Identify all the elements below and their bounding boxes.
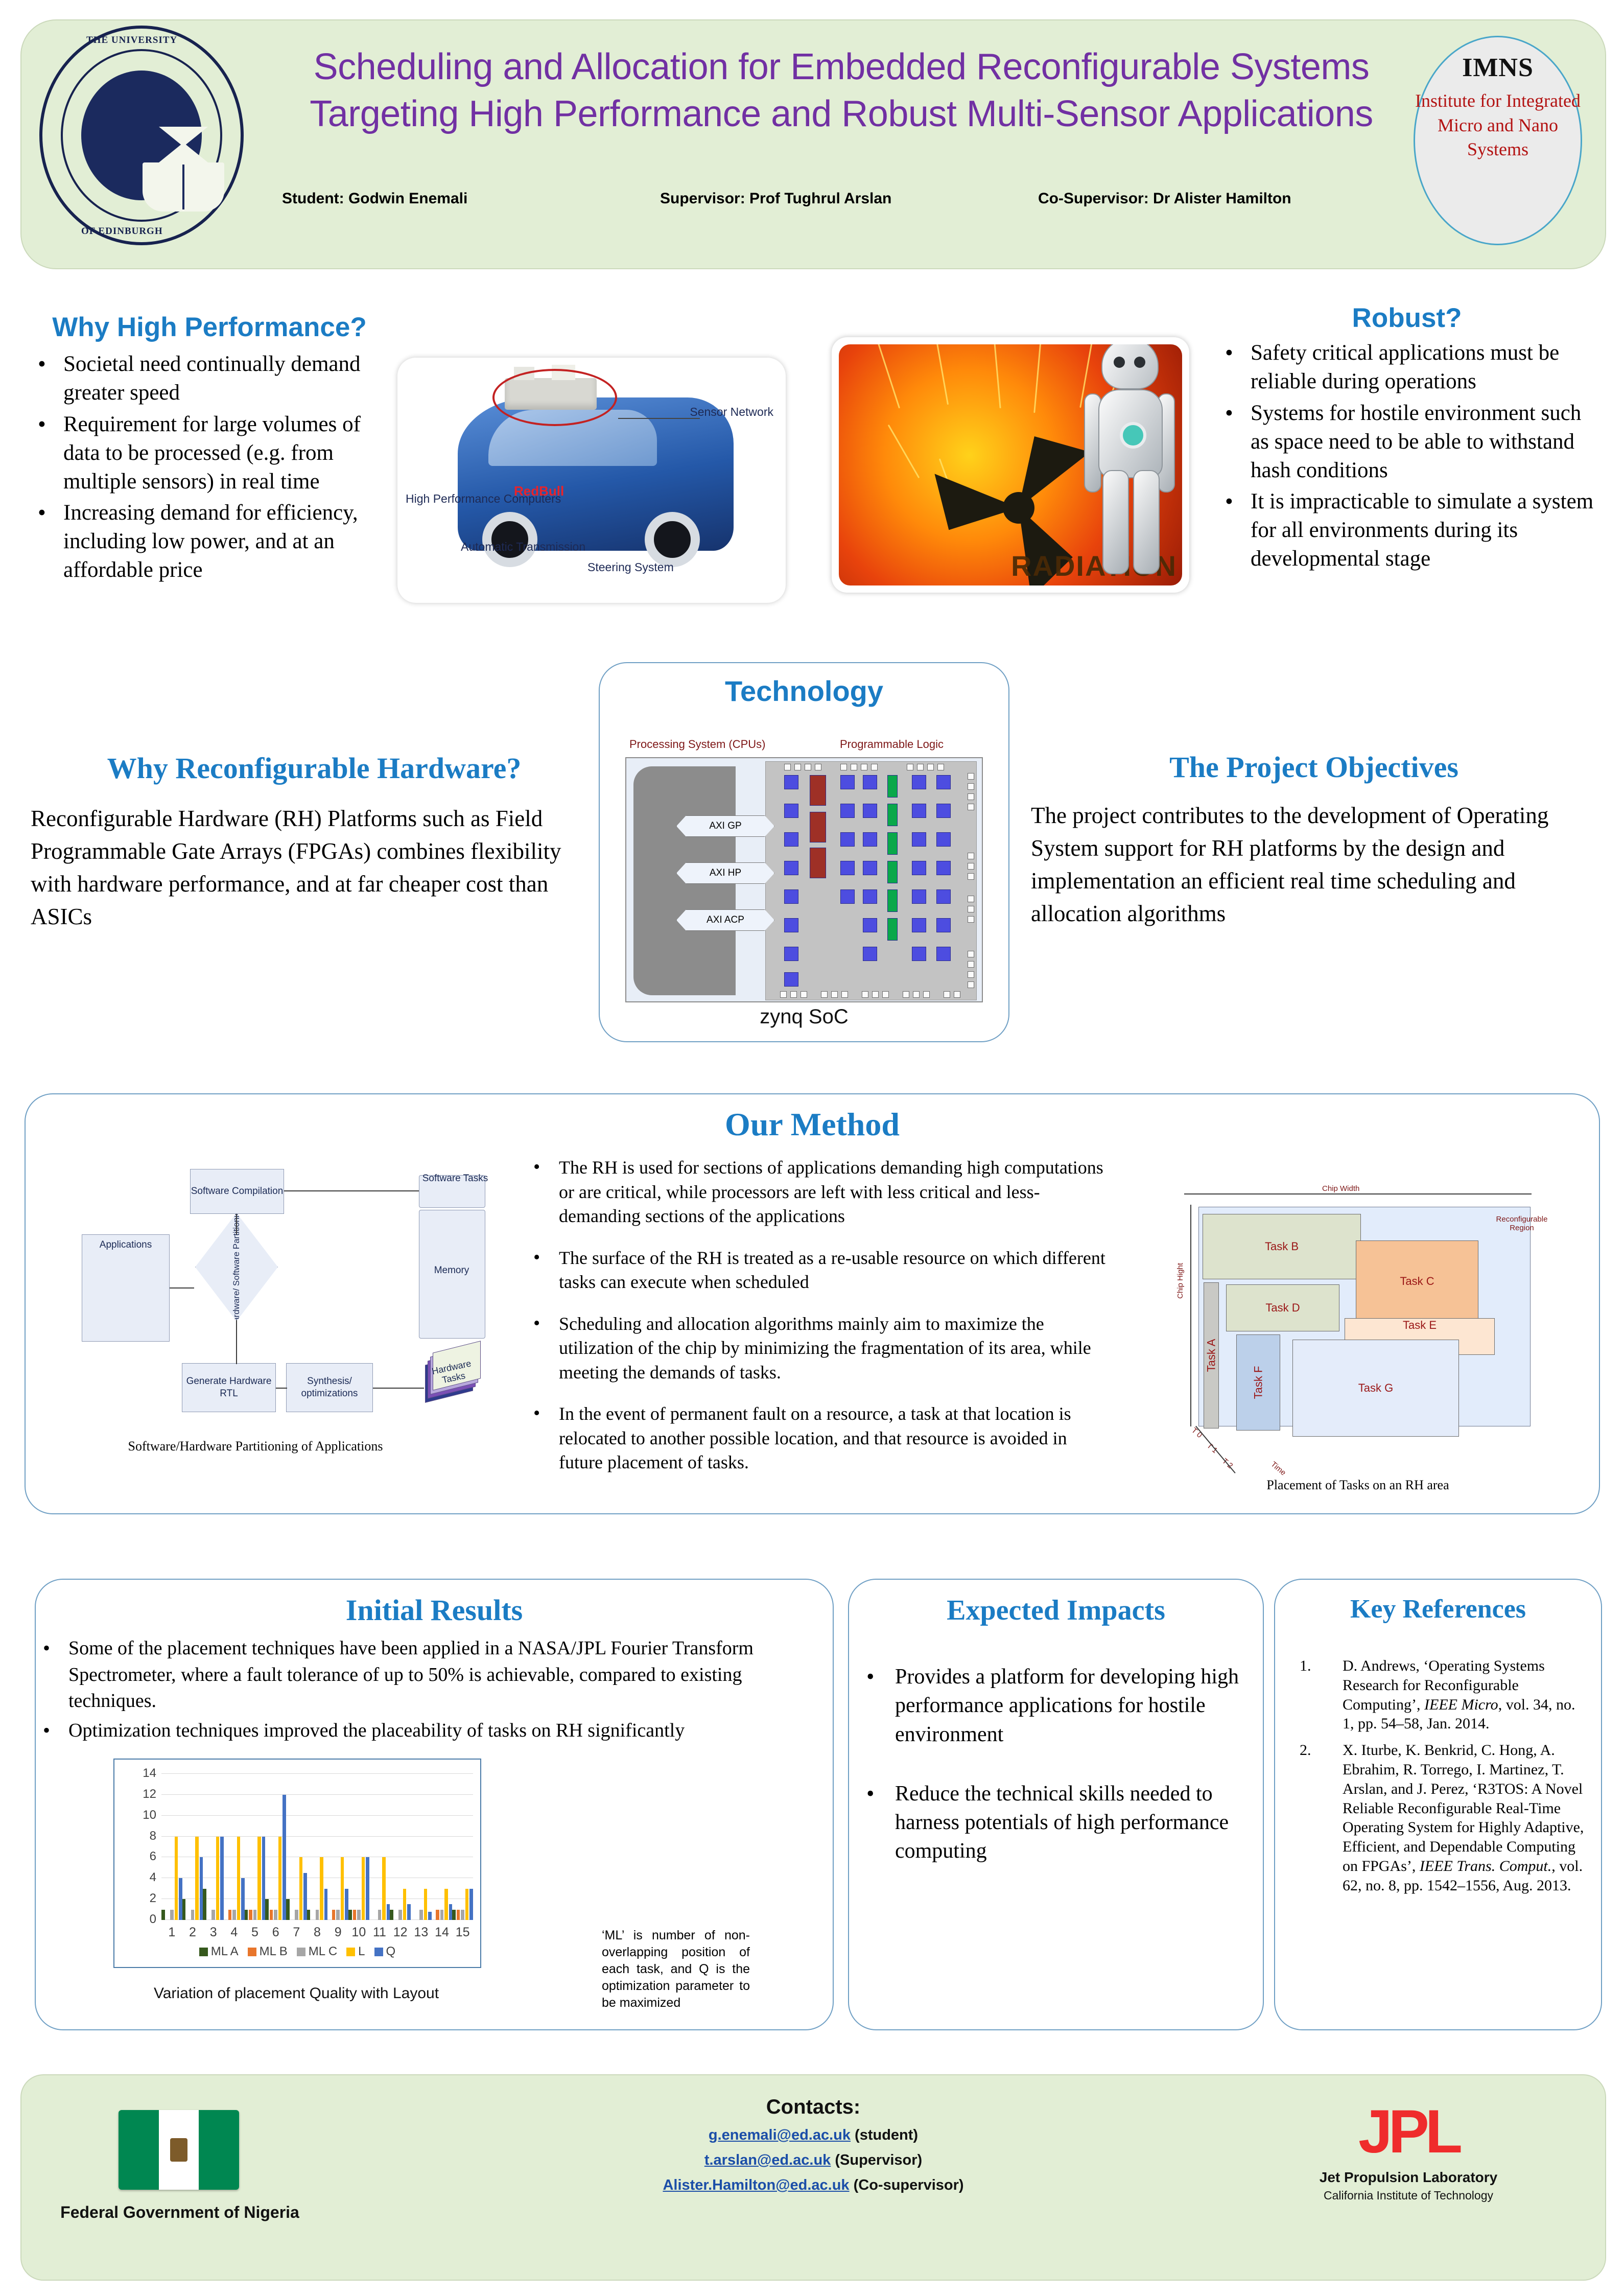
chart-x-tick: 6 [265,1925,286,1940]
email-link-supervisor[interactable]: t.arslan@ed.ac.uk [704,2152,831,2168]
flowchart-caption: Software/Hardware Partitioning of Applic… [51,1439,460,1454]
objectives-title: The Project Objectives [1031,750,1597,784]
task-block-f: Task F [1236,1334,1280,1431]
section-why-reconfigurable-hardware: Why Reconfigurable Hardware? Reconfigura… [31,751,598,933]
list-item: It is impracticable to simulate a system… [1218,487,1596,573]
chart-bar [440,1910,444,1920]
chart-bar [357,1910,361,1920]
chart-legend-item: ML A [199,1944,239,1959]
jpl-wordmark: JPL [1301,2101,1516,2162]
chart-bar [469,1889,473,1920]
chart-legend-swatch [346,1948,355,1956]
car-body-shape: RedBull [458,397,734,551]
task-block-d: Task D [1226,1284,1339,1331]
flow-node-generate-hardware-rtl: Generate Hardware RTL [182,1363,276,1412]
chart-bar [403,1889,407,1920]
label-chip-width: Chip Width [1322,1184,1359,1193]
email-link-cosupervisor[interactable]: Alister.Hamilton@ed.ac.uk [663,2177,849,2193]
programmable-logic-block [765,761,977,1000]
method-title: Our Method [26,1106,1599,1143]
contacts-heading: Contacts: [532,2096,1094,2119]
rh-diagram-caption: Placement of Tasks on an RH area [1154,1478,1562,1493]
chart-bar [398,1910,402,1920]
chart-bar-group: 11 [369,1774,390,1920]
axi-gp-arrow: AXI GP [676,815,774,837]
list-item: Scheduling and allocation algorithms mai… [526,1312,1109,1385]
contact-row: g.enemali@ed.ac.uk (student) [532,2127,1094,2144]
chart-x-tick: 10 [348,1925,369,1940]
impacts-list: Provides a platform for developing high … [849,1662,1263,1866]
chart-bar [195,1837,199,1920]
chart-legend: ML AML BML CLQ [114,1944,480,1959]
label-chip-height: Chip Hight [1176,1263,1185,1299]
chart-bar [407,1904,411,1920]
axi-hp-arrow: AXI HP [676,862,774,884]
chart-bar [200,1857,203,1920]
why-high-performance-list: Societal need continually demand greater… [31,350,388,584]
chart-bar [182,1899,186,1920]
chart-bar [324,1889,328,1920]
chart-bar [382,1857,386,1920]
chart-bar-group: 5 [245,1774,266,1920]
chart-bar-group: 12 [390,1774,411,1920]
chart-bar [262,1837,266,1920]
why-high-performance-title: Why High Performance? [31,312,388,343]
chart-legend-swatch [248,1948,256,1956]
chart-bar [278,1837,282,1920]
chart-bar [444,1889,448,1920]
crest-bottom-text: OF EDINBURGH [81,226,163,237]
chart-y-tick: 10 [143,1808,156,1822]
chart-bar [265,1899,269,1920]
section-technology: Technology Processing System (CPUs) Prog… [599,662,1009,1042]
contact-row: t.arslan@ed.ac.uk (Supervisor) [532,2152,1094,2169]
sensor-leader-line [618,418,700,419]
chart-bar-group: 8 [307,1774,328,1920]
list-item: Optimization techniques improved the pla… [36,1718,817,1744]
label-sensor-network: Sensor Network [690,405,773,420]
imns-abbr: IMNS [1415,53,1581,83]
chart-y-tick: 4 [150,1870,156,1885]
rh-placement-diagram: Chip Width Chip Hight Reconfigurable Reg… [1154,1171,1562,1478]
jpl-line-1: Jet Propulsion Laboratory [1301,2169,1516,2186]
results-title: Initial Results [36,1593,833,1627]
chart-bar [270,1910,273,1920]
radiation-robot-image: RADIATION [832,337,1189,593]
results-list: Some of the placement techniques have be… [36,1635,833,1744]
chart-bar [175,1837,178,1920]
chart-bar [216,1837,220,1920]
jpl-logo: JPL Jet Propulsion Laboratory California… [1301,2101,1516,2203]
title-line-1: Scheduling and Allocation for Embedded R… [251,43,1431,90]
sensor-highlight-ellipse [492,369,617,426]
instrumented-car-image: RedBull Sensor Network High Performance … [397,358,786,603]
chart-bar [378,1910,382,1920]
contact-row: Alister.Hamilton@ed.ac.uk (Co-supervisor… [532,2177,1094,2194]
list-item: Requirement for large volumes of data to… [31,410,388,496]
chart-bar [232,1910,236,1920]
chart-bar [299,1857,303,1920]
chart-legend-item: L [346,1944,365,1959]
chart-x-tick: 9 [327,1925,348,1940]
chart-bar [457,1910,460,1920]
chart-bar-group: 2 [182,1774,203,1920]
list-item: The surface of the RH is treated as a re… [526,1246,1109,1295]
radiation-background: RADIATION [839,344,1182,585]
chart-bar-group: 9 [327,1774,348,1920]
chart-y-tick: 14 [143,1766,156,1780]
chart-x-tick: 8 [307,1925,328,1940]
chart-bar [336,1910,340,1920]
chart-y-tick: 8 [150,1829,156,1843]
chart-bar [245,1910,248,1920]
flow-label-memory: Memory [419,1265,484,1276]
objectives-body: The project contributes to the developme… [1031,800,1597,930]
chart-bar-group: 10 [348,1774,369,1920]
references-title: Key References [1275,1594,1601,1624]
label-high-performance-computers: High Performance Computers [406,491,561,507]
role-student: (student) [851,2127,918,2143]
chart-legend-item: ML C [297,1944,337,1959]
chart-x-tick: 7 [286,1925,307,1940]
why-reconfigurable-title: Why Reconfigurable Hardware? [31,751,598,785]
chart-plot-area: 02468101214123456789101112131415 [161,1774,473,1920]
task-f-label: Task F [1252,1366,1265,1399]
ml-definition-note: ‘ML’ is number of non-overlapping positi… [602,1927,750,2011]
chart-bar-group: 4 [224,1774,245,1920]
label-reconfigurable-region: Reconfigurable Region [1489,1215,1555,1232]
chart-x-tick: 1 [161,1925,182,1940]
list-item: Systems for hostile environment such as … [1218,399,1596,485]
cosupervisor-name: Co-Supervisor: Dr Alister Hamilton [1038,190,1291,207]
chart-bar [465,1889,469,1920]
chart-bar [390,1910,393,1920]
chart-bar [353,1910,357,1920]
chart-bar [449,1904,453,1920]
why-reconfigurable-body: Reconfigurable Hardware (RH) Platforms s… [31,803,598,933]
chart-bar [286,1899,290,1920]
axi-acp-arrow: AXI ACP [676,909,774,931]
time-tick-t1: T 1 [1205,1441,1219,1455]
chart-bar [452,1910,456,1920]
sw-hw-partitioning-flowchart: Applications Hardware/ Software Partitio… [82,1169,490,1455]
chart-bar-group: 1 [161,1774,182,1920]
section-why-high-performance: Why High Performance? Societal need cont… [31,312,388,588]
supervisor-name: Supervisor: Prof Tughrul Arslan [660,190,891,207]
chart-bar [419,1910,423,1920]
chart-bar [307,1910,311,1920]
label-automatic-transmission: Automatic Transmission [461,540,585,555]
chart-bar [228,1910,232,1920]
task-block-c: Task C [1356,1240,1478,1322]
label-processing-system: Processing System (CPUs) [629,738,766,751]
flow-label-software-tasks: Software Tasks [422,1173,488,1184]
chart-x-tick: 11 [369,1925,390,1940]
robust-list: Safety critical applications must be rel… [1218,339,1596,573]
list-item: In the event of permanent fault on a res… [526,1402,1109,1475]
list-item: Societal need continually demand greater… [31,350,388,407]
role-supervisor: (Supervisor) [831,2152,922,2168]
chart-legend-swatch [199,1948,208,1956]
chart-bar [345,1889,348,1920]
page-title: Scheduling and Allocation for Embedded R… [251,43,1431,137]
student-name: Student: Godwin Enemali [282,190,467,207]
robust-title: Robust? [1218,302,1596,334]
list-item: The RH is used for sections of applicati… [526,1156,1109,1229]
chart-bar [203,1889,206,1920]
chart-bar-group: 14 [432,1774,453,1920]
role-cosupervisor: (Co-supervisor) [850,2177,964,2193]
chart-bar [283,1795,286,1920]
chart-legend-swatch [374,1948,383,1956]
list-item: Some of the placement techniques have be… [36,1635,817,1715]
chart-bar [249,1910,252,1920]
chart-y-tick: 0 [150,1912,156,1927]
chart-bar [170,1910,174,1920]
task-a-label: Task A [1205,1339,1218,1372]
chart-bar [436,1910,439,1920]
chart-bar [316,1910,319,1920]
chart-bar [362,1857,365,1920]
placement-quality-chart: 02468101214123456789101112131415 ML AML … [113,1759,481,1968]
chart-x-tick: 5 [245,1925,266,1940]
chart-bar [461,1910,464,1920]
chart-legend-item: Q [374,1944,396,1959]
chart-bar-group: 6 [265,1774,286,1920]
chart-bar-group: 7 [286,1774,307,1920]
poster-footer: Federal Government of Nigeria Contacts: … [20,2074,1606,2281]
title-line-2: Targeting High Performance and Robust Mu… [251,90,1431,137]
list-item: Provides a platform for developing high … [849,1662,1263,1749]
contacts-block: Contacts: g.enemali@ed.ac.uk (student) t… [532,2096,1094,2194]
label-steering-system: Steering System [587,560,674,575]
section-our-method: Our Method Applications Hardware/ Softwa… [25,1093,1600,1514]
poster-header: THE UNIVERSITY OF EDINBURGH Scheduling a… [20,19,1606,269]
flow-node-synthesis-optimizations: Synthesis/ optimizations [286,1363,373,1412]
chart-bar-group: 15 [452,1774,473,1920]
technology-caption: zynq SoC [600,1005,1008,1028]
chart-bar [257,1837,261,1920]
chart-bar [332,1910,336,1920]
list-item: Increasing demand for efficiency, includ… [31,499,388,584]
chart-bar [211,1910,215,1920]
reference-item: 1.D. Andrews, ‘Operating Systems Researc… [1293,1656,1588,1733]
chart-x-tick: 13 [411,1925,432,1940]
chart-bar [237,1837,241,1920]
chart-bar [341,1857,344,1920]
imns-logo: IMNS Institute for Integrated Micro and … [1414,36,1582,245]
chart-bar [220,1837,224,1920]
chart-y-tick: 2 [150,1891,156,1906]
chart-x-tick: 15 [452,1925,473,1940]
email-link-student[interactable]: g.enemali@ed.ac.uk [709,2127,851,2143]
list-item: Safety critical applications must be rel… [1218,339,1596,396]
list-item: Reduce the technical skills needed to ha… [849,1779,1263,1866]
task-block-b: Task B [1203,1214,1361,1279]
label-programmable-logic: Programmable Logic [840,738,944,751]
chart-bar [191,1910,195,1920]
task-block-a: Task A [1204,1282,1219,1428]
impacts-title: Expected Impacts [849,1594,1263,1627]
crest-top-text: THE UNIVERSITY [86,35,177,46]
reference-number: 2. [1300,1741,1311,1760]
reference-number: 1. [1300,1656,1311,1676]
chart-caption: Variation of placement Quality with Layo… [112,1983,480,2003]
chart-x-tick: 12 [390,1925,411,1940]
chart-bar [320,1857,323,1920]
section-robust: Robust? Safety critical applications mus… [1218,302,1596,576]
chart-x-tick: 4 [224,1925,245,1940]
references-list: 1.D. Andrews, ‘Operating Systems Researc… [1293,1656,1588,1903]
section-key-references: Key References 1.D. Andrews, ‘Operating … [1274,1579,1602,2030]
chart-x-tick: 14 [432,1925,453,1940]
chart-y-tick: 12 [143,1787,156,1801]
chart-bar [274,1910,277,1920]
jpl-line-2: California Institute of Technology [1301,2189,1516,2203]
chart-y-tick: 6 [150,1849,156,1864]
imns-name: Institute for Integrated Micro and Nano … [1415,89,1581,162]
method-list: The RH is used for sections of applicati… [526,1156,1109,1492]
university-of-edinburgh-crest-icon: THE UNIVERSITY OF EDINBURGH [39,26,244,245]
chart-bar-group: 3 [203,1774,224,1920]
label-time-axis: Time [1269,1460,1287,1477]
reference-journal: IEEE Micro [1424,1696,1498,1713]
section-expected-impacts: Expected Impacts Provides a platform for… [848,1579,1264,2030]
section-project-objectives: The Project Objectives The project contr… [1031,750,1597,930]
chart-bar [424,1889,428,1920]
chart-legend-swatch [297,1948,305,1956]
reference-item: 2.X. Iturbe, K. Benkrid, C. Hong, A. Ebr… [1293,1741,1588,1895]
chart-bar [161,1910,165,1920]
chart-bar [295,1910,298,1920]
zynq-soc-diagram: AXI GP AXI HP AXI ACP [625,757,983,1002]
chart-legend-item: ML B [248,1944,288,1959]
poster-canvas: THE UNIVERSITY OF EDINBURGH Scheduling a… [0,0,1624,2296]
chart-bar [253,1910,257,1920]
chart-bar-group: 13 [411,1774,432,1920]
nigeria-flag-icon [119,2110,239,2190]
chart-bar [348,1910,352,1920]
chart-x-tick: 2 [182,1925,203,1940]
flow-node-applications: Applications [82,1234,170,1342]
chart-bar [387,1904,390,1920]
reference-journal: IEEE Trans. Comput. [1420,1858,1551,1875]
chart-x-tick: 3 [203,1925,224,1940]
nigeria-caption: Federal Government of Nigeria [52,2203,308,2222]
task-block-g: Task G [1292,1340,1459,1437]
humanoid-robot-figure [1081,344,1178,581]
flow-node-software-compilation: Software Compilation [190,1169,284,1214]
technology-title: Technology [600,674,1008,708]
